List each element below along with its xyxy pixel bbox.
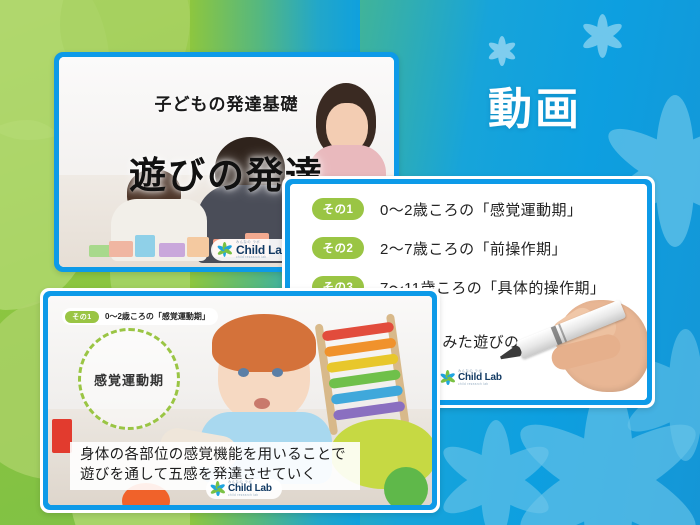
asterisk-flower-icon — [217, 242, 232, 257]
logo-sub-text: child research lab — [228, 494, 272, 497]
item-badge: その2 — [312, 237, 364, 259]
green-ball-toy — [384, 467, 428, 505]
toy-block — [159, 243, 185, 257]
item-label: 2〜7歳ころの「前操作期」 — [380, 238, 567, 259]
toy-block — [109, 241, 133, 257]
page-title: 動画 — [488, 73, 582, 137]
hand-holding-marker-icon — [521, 290, 647, 394]
asterisk-flower-icon — [442, 372, 454, 384]
logo-sub-text: child research lab — [458, 383, 502, 386]
logo-sub-text: child research lab — [236, 256, 289, 259]
item-badge: その1 — [312, 198, 364, 220]
caption-line-1: 身体の各部位の感覚機能を用いることで — [80, 446, 346, 466]
toy-block — [187, 237, 209, 257]
toy-block — [135, 235, 155, 257]
slide-header-bar: その1 0〜2歳ころの「感覚運動期」 — [62, 308, 218, 325]
child-lab-logo: みんなの ラボ Child Lab child research lab — [206, 479, 282, 499]
slide-subtitle: 子どもの発達基礎 — [59, 90, 394, 115]
screenshot-root: 動画 — [0, 0, 700, 525]
item-label: 0〜2歳ころの「感覚運動期」 — [380, 199, 582, 220]
red-block-toy — [52, 419, 72, 453]
child-lab-logo: みんなの ラボ Child Lab child research lab — [436, 368, 512, 388]
list-item: その1 0〜2歳ころの「感覚運動期」 — [312, 198, 637, 220]
logo-name: Child Lab — [236, 244, 289, 256]
header-label: 0〜2歳ころの「感覚運動期」 — [105, 311, 210, 322]
toy-block — [89, 245, 111, 257]
header-badge: その1 — [65, 311, 99, 323]
slide-card-sensorimotor[interactable]: その1 0〜2歳ころの「感覚運動期」 感覚運動期 身体の各部位の感覚機能を用いる… — [40, 288, 440, 513]
stage-circle-label: 感覚運動期 — [78, 328, 180, 430]
asterisk-flower-icon — [212, 483, 224, 495]
list-item: その2 2〜7歳ころの「前操作期」 — [312, 237, 637, 259]
slide-card-sensorimotor-inner: その1 0〜2歳ころの「感覚運動期」 感覚運動期 身体の各部位の感覚機能を用いる… — [48, 296, 432, 505]
